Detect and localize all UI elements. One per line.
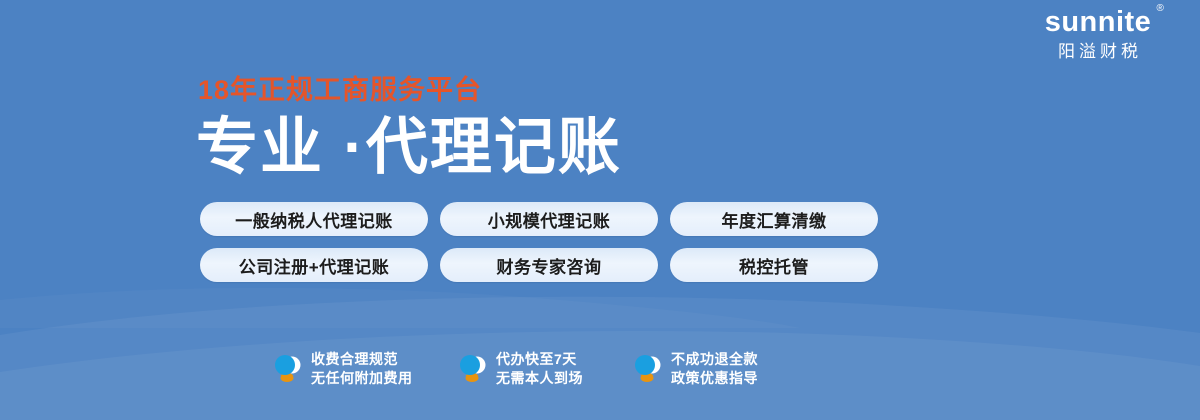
service-pill-row: 一般纳税人代理记账 小规模代理记账 年度汇算清缴	[200, 202, 878, 236]
promo-banner: sunnite ® 阳溢财税 18年正规工商服务平台 专业 ·代理记账 一般纳税…	[0, 0, 1200, 420]
hero-headline: 专业 ·代理记账	[196, 112, 622, 184]
feature-item: 代办快至7天 无需本人到场	[457, 350, 632, 388]
feature-line-2: 无任何附加费用	[311, 369, 413, 388]
logo-wordmark: sunnite ®	[1045, 6, 1152, 38]
feature-line-1: 不成功退全款	[671, 350, 758, 369]
feature-line-2: 无需本人到场	[496, 369, 583, 388]
hero-tagline: 18年正规工商服务平台	[198, 74, 482, 106]
feature-text: 收费合理规范 无任何附加费用	[311, 350, 413, 388]
service-pill-row: 公司注册+代理记账 财务专家咨询 税控托管	[200, 248, 878, 282]
service-pill[interactable]: 税控托管	[670, 248, 878, 282]
feature-text: 不成功退全款 政策优惠指导	[671, 350, 758, 388]
eclipse-dot-icon	[632, 352, 662, 386]
service-pill-grid: 一般纳税人代理记账 小规模代理记账 年度汇算清缴 公司注册+代理记账 财务专家咨…	[200, 202, 878, 282]
feature-strip: 收费合理规范 无任何附加费用 代办快至7天 无需本人到场	[272, 350, 812, 388]
logo-chinese-name: 阳溢财税	[1014, 42, 1182, 62]
logo-wordmark-text: sunnite	[1045, 6, 1152, 38]
feature-text: 代办快至7天 无需本人到场	[496, 350, 583, 388]
service-pill[interactable]: 财务专家咨询	[440, 248, 658, 282]
service-pill[interactable]: 一般纳税人代理记账	[200, 202, 428, 236]
feature-item: 不成功退全款 政策优惠指导	[632, 350, 812, 388]
service-pill[interactable]: 年度汇算清缴	[670, 202, 878, 236]
service-pill[interactable]: 小规模代理记账	[440, 202, 658, 236]
eclipse-dot-icon	[272, 352, 302, 386]
feature-item: 收费合理规范 无任何附加费用	[272, 350, 457, 388]
eclipse-dot-icon	[457, 352, 487, 386]
service-pill[interactable]: 公司注册+代理记账	[200, 248, 428, 282]
brand-logo[interactable]: sunnite ® 阳溢财税	[1014, 6, 1182, 62]
registered-trademark-icon: ®	[1156, 4, 1164, 14]
feature-line-1: 收费合理规范	[311, 350, 413, 369]
feature-line-2: 政策优惠指导	[671, 369, 758, 388]
feature-line-1: 代办快至7天	[496, 350, 583, 369]
